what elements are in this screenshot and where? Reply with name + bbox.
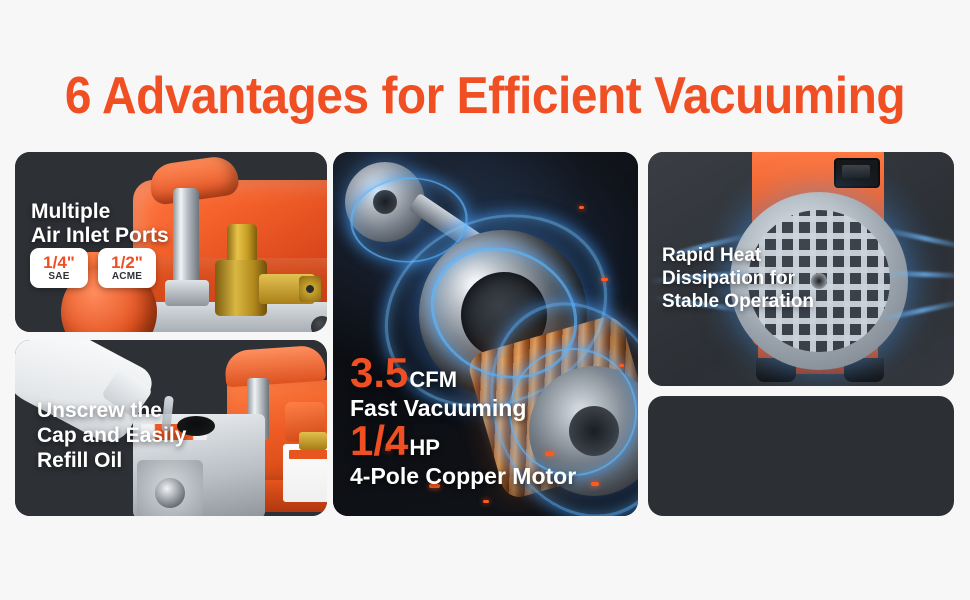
port-badge-group: 1/4" SAE 1/2" ACME	[30, 248, 156, 288]
heat-dissipation-title-line2: Dissipation for	[662, 267, 814, 290]
infographic-stage: 6 Advantages for Efficient Vacuuming Mul…	[0, 0, 970, 600]
heat-dissipation-title: Rapid Heat Dissipation for Stable Operat…	[662, 244, 814, 313]
port-badge-acme-label: ACME	[112, 271, 142, 283]
motor-hp-unit: HP	[409, 435, 440, 460]
air-inlet-title: Multiple Air Inlet Ports	[31, 200, 169, 248]
oil-refill-title-line2: Cap and Easily	[37, 423, 186, 448]
panel-compatibility: Compatible with R134a R22 R410a	[648, 396, 954, 516]
heat-dissipation-title-line1: Rapid Heat	[662, 244, 814, 267]
oil-refill-title: Unscrew the Cap and Easily Refill Oil	[37, 398, 186, 473]
port-badge-acme: 1/2" ACME	[98, 248, 156, 288]
heat-dissipation-title-line3: Stable Operation	[662, 290, 814, 313]
oil-refill-title-line3: Refill Oil	[37, 448, 186, 473]
air-inlet-title-line2: Air Inlet Ports	[31, 224, 169, 248]
power-switch-icon	[834, 158, 880, 188]
motor-hp-value: 1/4	[350, 417, 408, 464]
motor-spec-hp: 1/4HP 4-Pole Copper Motor	[350, 420, 576, 489]
motor-cfm-value: 3.5	[350, 349, 408, 396]
port-badge-acme-value: 1/2"	[111, 254, 143, 271]
port-badge-sae: 1/4" SAE	[30, 248, 88, 288]
motor-cfm-unit: CFM	[409, 367, 457, 392]
page-title: 6 Advantages for Efficient Vacuuming	[39, 66, 931, 126]
motor-spec-cfm: 3.5CFM Fast Vacuuming	[350, 352, 526, 421]
port-badge-sae-label: SAE	[48, 271, 69, 283]
oil-refill-title-line1: Unscrew the	[37, 398, 186, 423]
air-inlet-title-line1: Multiple	[31, 200, 169, 224]
port-badge-sae-value: 1/4"	[43, 254, 75, 271]
motor-hp-desc: 4-Pole Copper Motor	[350, 463, 576, 489]
